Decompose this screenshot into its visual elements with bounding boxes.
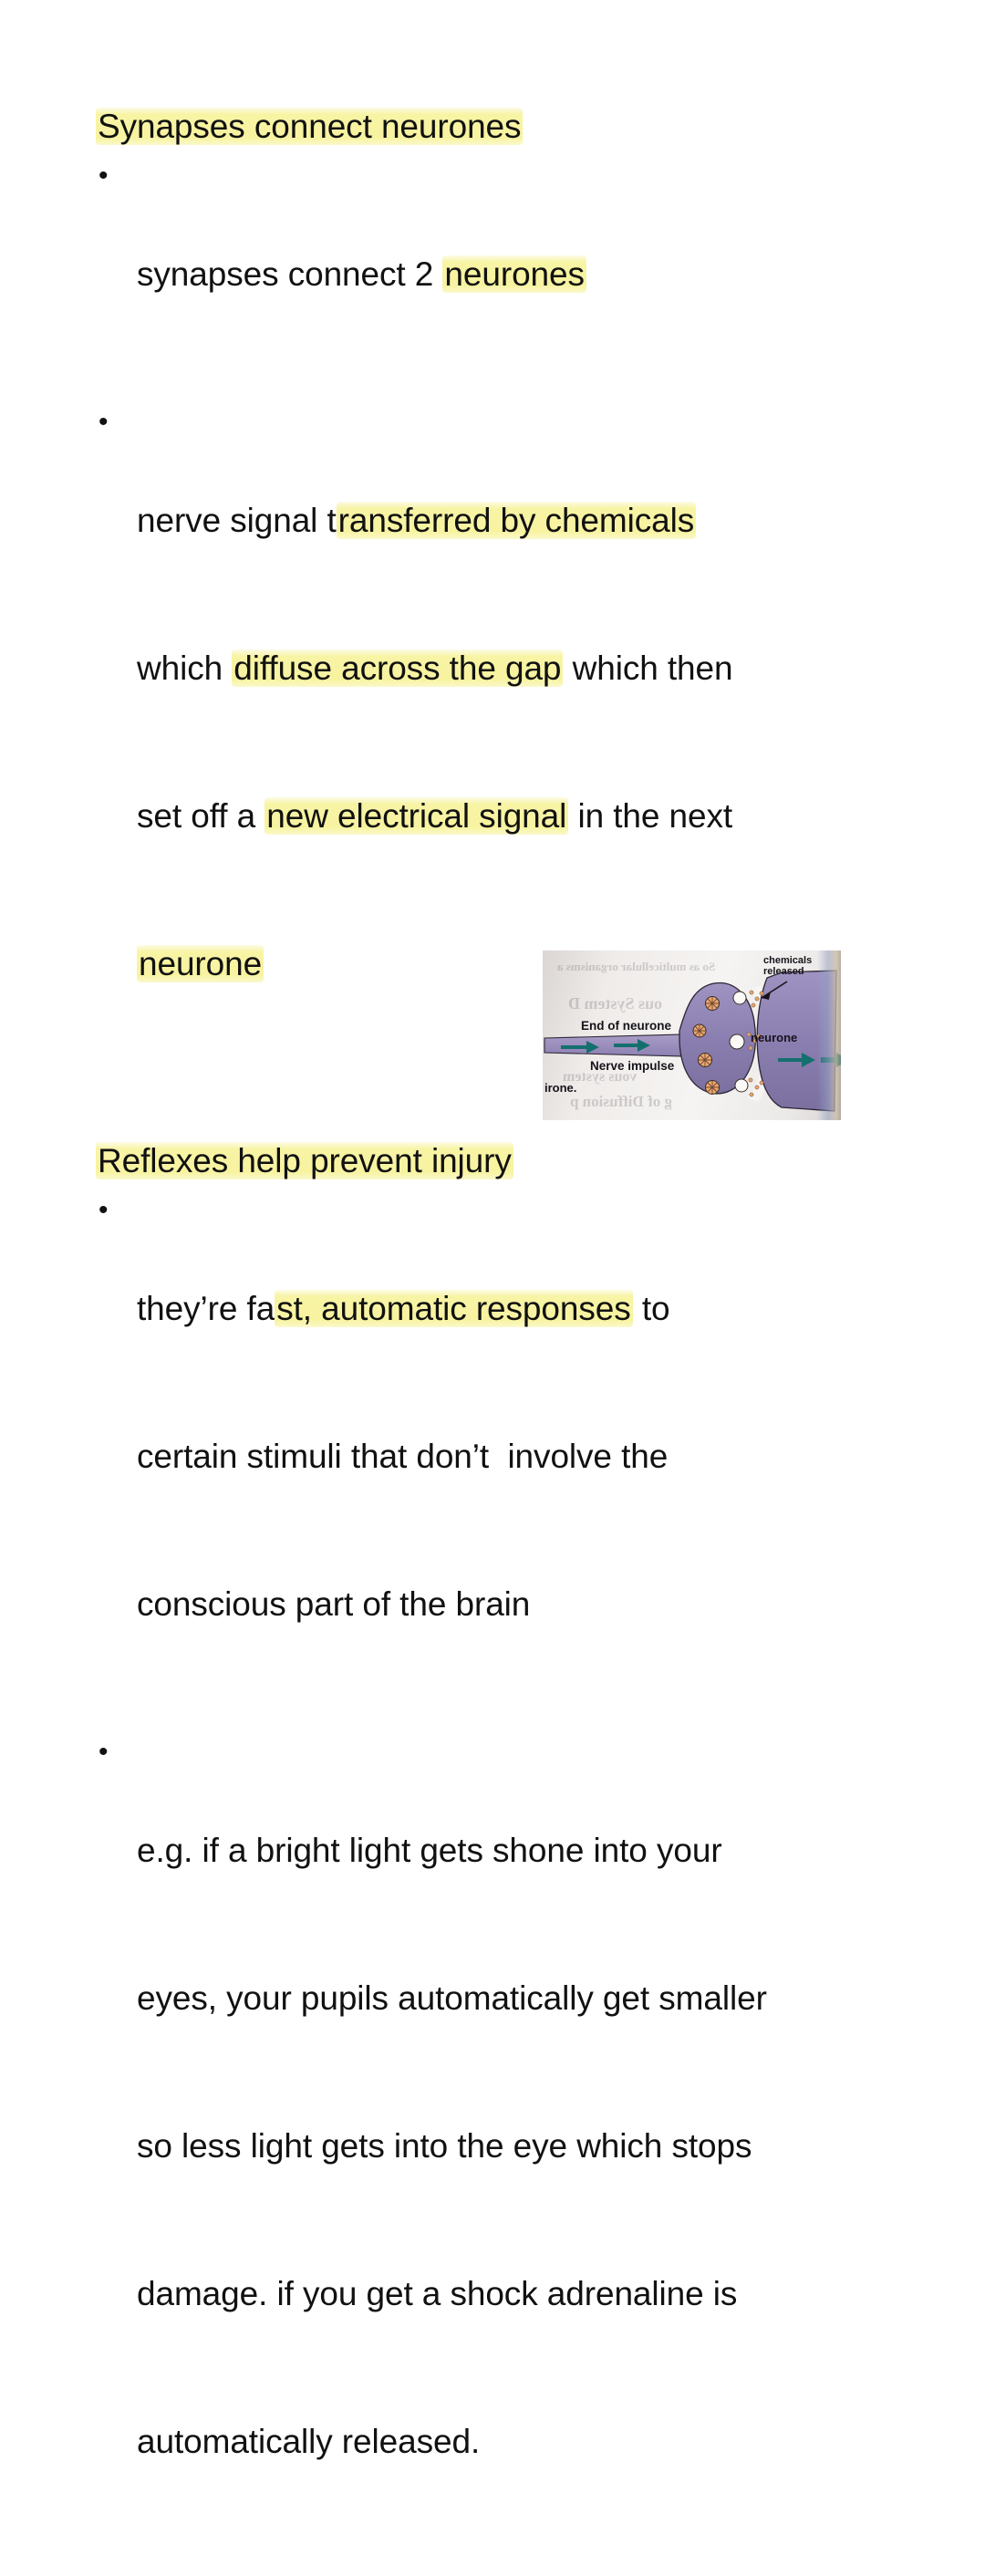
bullet-text: they’re fast, automatic responses to cer… [137, 1186, 917, 1728]
bullet-marker: • [96, 2565, 137, 2576]
text-line: eyes, your pupils automatically get smal… [137, 1974, 917, 2023]
heading-synapses: Synapses connect neurones [96, 102, 917, 151]
label-end-of-neurone: End of neurone [581, 1020, 671, 1033]
bullet-marker: • [96, 398, 137, 447]
text-line: damage. if you get a shock adrenaline is [137, 2270, 917, 2319]
text-line: they’re fast, automatic responses to [137, 1284, 917, 1334]
text-line: e.g. if a bright light gets shone into y… [137, 1826, 917, 1875]
bullet-item: • they’re fast, automatic responses to c… [96, 1186, 917, 1728]
heading-reflexes: Reflexes help prevent injury [96, 1137, 917, 1186]
label-chemicals-released: chemicals released [763, 956, 812, 977]
bullet-text: passages from the receptor to the effect… [137, 2565, 917, 2576]
heading-synapses-text: Synapses connect neurones [96, 108, 523, 145]
heading-reflexes-text: Reflexes help prevent injury [96, 1142, 513, 1179]
note-page: Synapses connect neurones • synapses con… [0, 0, 985, 1288]
bullet-marker: • [96, 1728, 137, 1777]
text-line: certain stimuli that don’t involve the [137, 1432, 917, 1481]
bullet-marker: • [96, 1186, 137, 1235]
bullet-item: • passages from the receptor to the effe… [96, 2565, 917, 2576]
bullet-marker: • [96, 151, 137, 201]
text-line: synapses connect 2 neurones [137, 250, 917, 299]
section-reflexes: Reflexes help prevent injury • they’re f… [96, 1137, 917, 2576]
bullet-item: • e.g. if a bright light gets shone into… [96, 1728, 917, 2565]
synapse-diagram-photo: So as multicellular organisms a ous Syst… [543, 950, 841, 1120]
bullet-text: e.g. if a bright light gets shone into y… [137, 1728, 917, 2565]
book-page-edge [817, 950, 841, 1120]
bullet-text: synapses connect 2 neurones [137, 151, 917, 398]
text-line: set off a new electrical signal in the n… [137, 792, 917, 841]
notes-body: Synapses connect neurones • synapses con… [96, 102, 917, 2576]
text-line: so less light gets into the eye which st… [137, 2122, 917, 2171]
text-line: which diffuse across the gap which then [137, 644, 917, 693]
text-line: conscious part of the brain [137, 1580, 917, 1629]
label-nerve-impulse: Nerve impulse [590, 1060, 674, 1073]
section-synapses: Synapses connect neurones • synapses con… [96, 102, 917, 1087]
label-cut-off-text: irone. [544, 1082, 576, 1095]
text-line: nerve signal transferred by chemicals [137, 496, 917, 545]
label-neurone: neurone [751, 1032, 797, 1044]
text-line: automatically released. [137, 2417, 917, 2467]
bullet-item: • synapses connect 2 neurones [96, 151, 917, 398]
